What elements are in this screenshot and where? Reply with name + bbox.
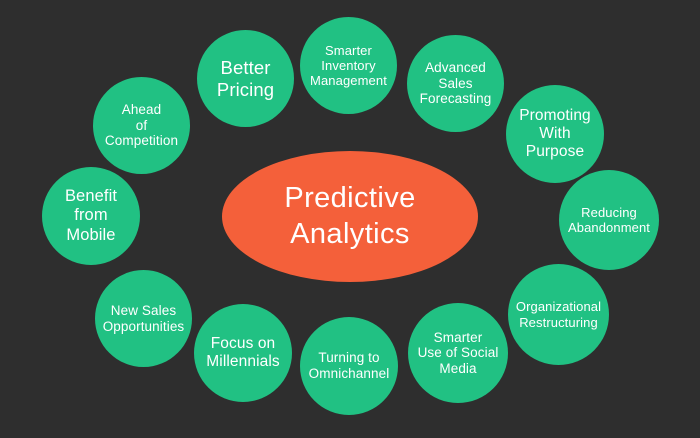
center-node-predictive-analytics[interactable]: Predictive Analytics bbox=[222, 151, 478, 282]
bubble-label: Better Pricing bbox=[213, 57, 278, 100]
bubble-smarter-inventory-management[interactable]: Smarter Inventory Management bbox=[300, 17, 397, 114]
bubble-new-sales-opportunities[interactable]: New Sales Opportunities bbox=[95, 270, 192, 367]
bubble-benefit-from-mobile[interactable]: Benefit from Mobile bbox=[42, 167, 140, 265]
bubble-organizational-restructuring[interactable]: Organizational Restructuring bbox=[508, 264, 609, 365]
bubble-diagram-canvas: Ahead of CompetitionBetter PricingSmarte… bbox=[0, 0, 700, 438]
bubble-label: Smarter Use of Social Media bbox=[414, 330, 503, 377]
bubble-label: New Sales Opportunities bbox=[99, 303, 189, 334]
bubble-label: Promoting With Purpose bbox=[515, 107, 595, 161]
bubble-turning-to-omnichannel[interactable]: Turning to Omnichannel bbox=[300, 317, 398, 415]
bubble-better-pricing[interactable]: Better Pricing bbox=[197, 30, 294, 127]
bubble-label: Organizational Restructuring bbox=[512, 299, 605, 329]
bubble-ahead-of-competition[interactable]: Ahead of Competition bbox=[93, 77, 190, 174]
bubble-smarter-use-of-social-media[interactable]: Smarter Use of Social Media bbox=[408, 303, 508, 403]
bubble-reducing-abandonment[interactable]: Reducing Abandonment bbox=[559, 170, 659, 270]
bubble-promoting-with-purpose[interactable]: Promoting With Purpose bbox=[506, 85, 604, 183]
bubble-advanced-sales-forecasting[interactable]: Advanced Sales Forecasting bbox=[407, 35, 504, 132]
bubble-label: Ahead of Competition bbox=[101, 102, 182, 149]
bubble-label: Benefit from Mobile bbox=[61, 187, 121, 244]
bubble-label: Turning to Omnichannel bbox=[305, 350, 394, 381]
center-node-label: Predictive Analytics bbox=[284, 181, 415, 253]
bubble-label: Focus on Millennials bbox=[202, 335, 283, 371]
bubble-focus-on-millennials[interactable]: Focus on Millennials bbox=[194, 304, 292, 402]
bubble-label: Advanced Sales Forecasting bbox=[416, 60, 496, 107]
bubble-label: Reducing Abandonment bbox=[564, 205, 654, 235]
bubble-label: Smarter Inventory Management bbox=[306, 43, 391, 88]
